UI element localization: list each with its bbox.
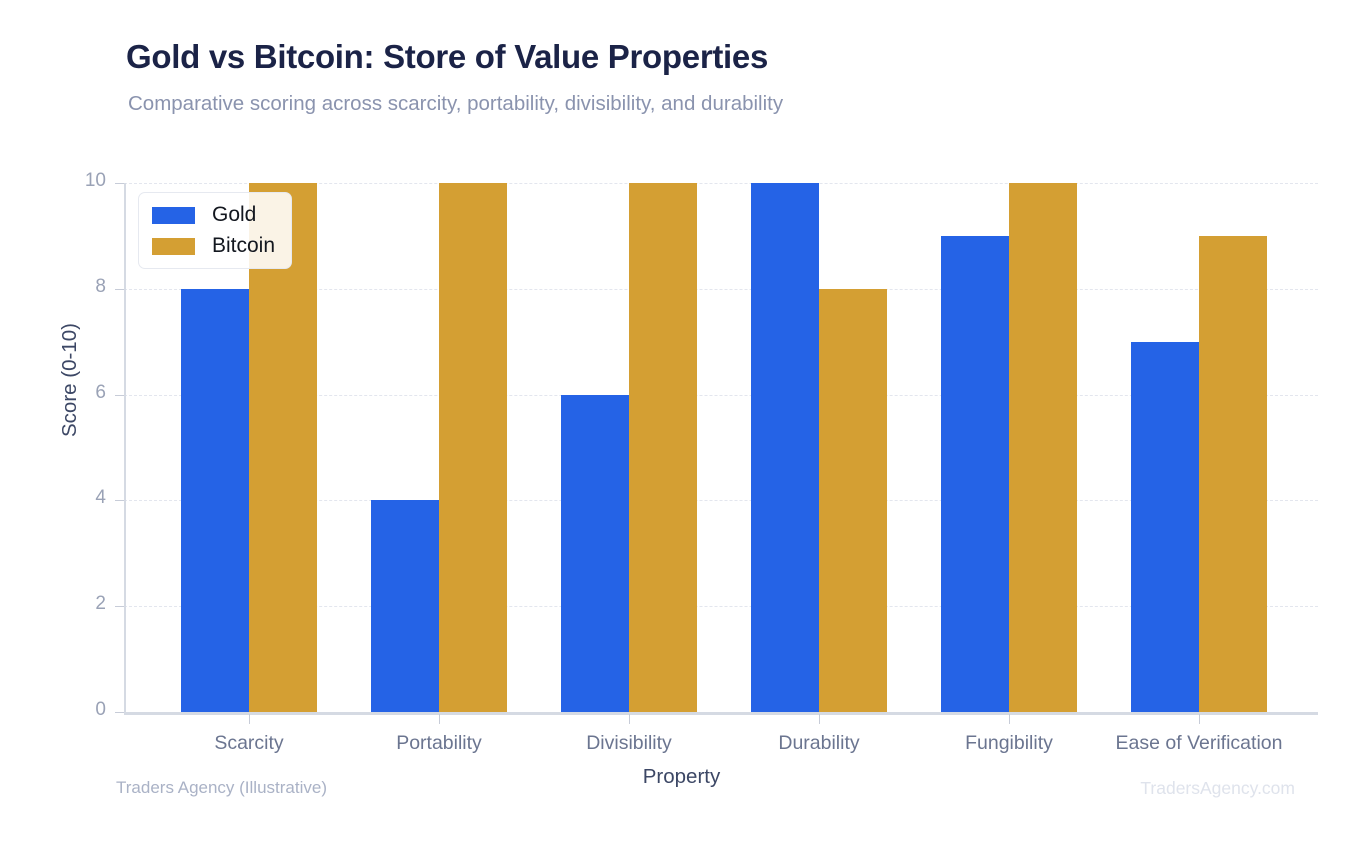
bar-bitcoin-5[interactable] [1199,236,1267,712]
x-tick-label: Durability [778,732,859,755]
x-tick-mark [1009,714,1010,724]
chart-legend[interactable]: GoldBitcoin [138,192,292,269]
legend-item-gold[interactable]: Gold [152,203,275,227]
chart-subtitle: Comparative scoring across scarcity, por… [128,92,783,116]
bar-bitcoin-3[interactable] [819,289,887,712]
legend-label: Gold [212,203,256,227]
x-tick-label: Scarcity [214,732,283,755]
legend-swatch-icon [152,207,195,224]
bar-bitcoin-4[interactable] [1009,183,1077,712]
footer-watermark: TradersAgency.com [1140,778,1295,799]
legend-swatch-icon [152,238,195,255]
y-tick-mark [115,606,124,607]
plot-inner [124,183,1318,712]
y-tick-label: 0 [52,699,106,721]
y-tick-mark [115,289,124,290]
chart-page: Gold vs Bitcoin: Store of Value Properti… [0,0,1363,845]
x-tick-mark [819,714,820,724]
bar-gold-2[interactable] [561,395,629,712]
bar-gold-5[interactable] [1131,342,1199,712]
y-tick-label: 10 [52,170,106,192]
bar-bitcoin-2[interactable] [629,183,697,712]
y-tick-label: 4 [52,487,106,509]
y-tick-label: 8 [52,276,106,298]
bar-gold-1[interactable] [371,500,439,712]
bar-gold-0[interactable] [181,289,249,712]
legend-item-bitcoin[interactable]: Bitcoin [152,234,275,258]
y-tick-label: 2 [52,593,106,615]
y-tick-mark [115,183,124,184]
x-tick-label: Ease of Verification [1116,732,1283,755]
x-tick-label: Divisibility [586,732,672,755]
bar-gold-4[interactable] [941,236,1009,712]
x-tick-label: Fungibility [965,732,1053,755]
x-tick-label: Portability [396,732,482,755]
y-axis-spine [124,183,126,712]
x-axis-spine [124,712,1318,715]
y-tick-mark [115,395,124,396]
x-tick-mark [629,714,630,724]
x-tick-mark [1199,714,1200,724]
plot-area: 0246810ScarcityPortabilityDivisibilityDu… [124,183,1318,712]
y-tick-mark [115,712,124,713]
footer-attribution: Traders Agency (Illustrative) [116,778,327,798]
legend-label: Bitcoin [212,234,275,258]
bar-bitcoin-1[interactable] [439,183,507,712]
x-tick-mark [439,714,440,724]
y-tick-mark [115,500,124,501]
page-title: Gold vs Bitcoin: Store of Value Properti… [126,38,768,76]
x-tick-mark [249,714,250,724]
bar-gold-3[interactable] [751,183,819,712]
y-axis-title: Score (0-10) [58,323,82,437]
